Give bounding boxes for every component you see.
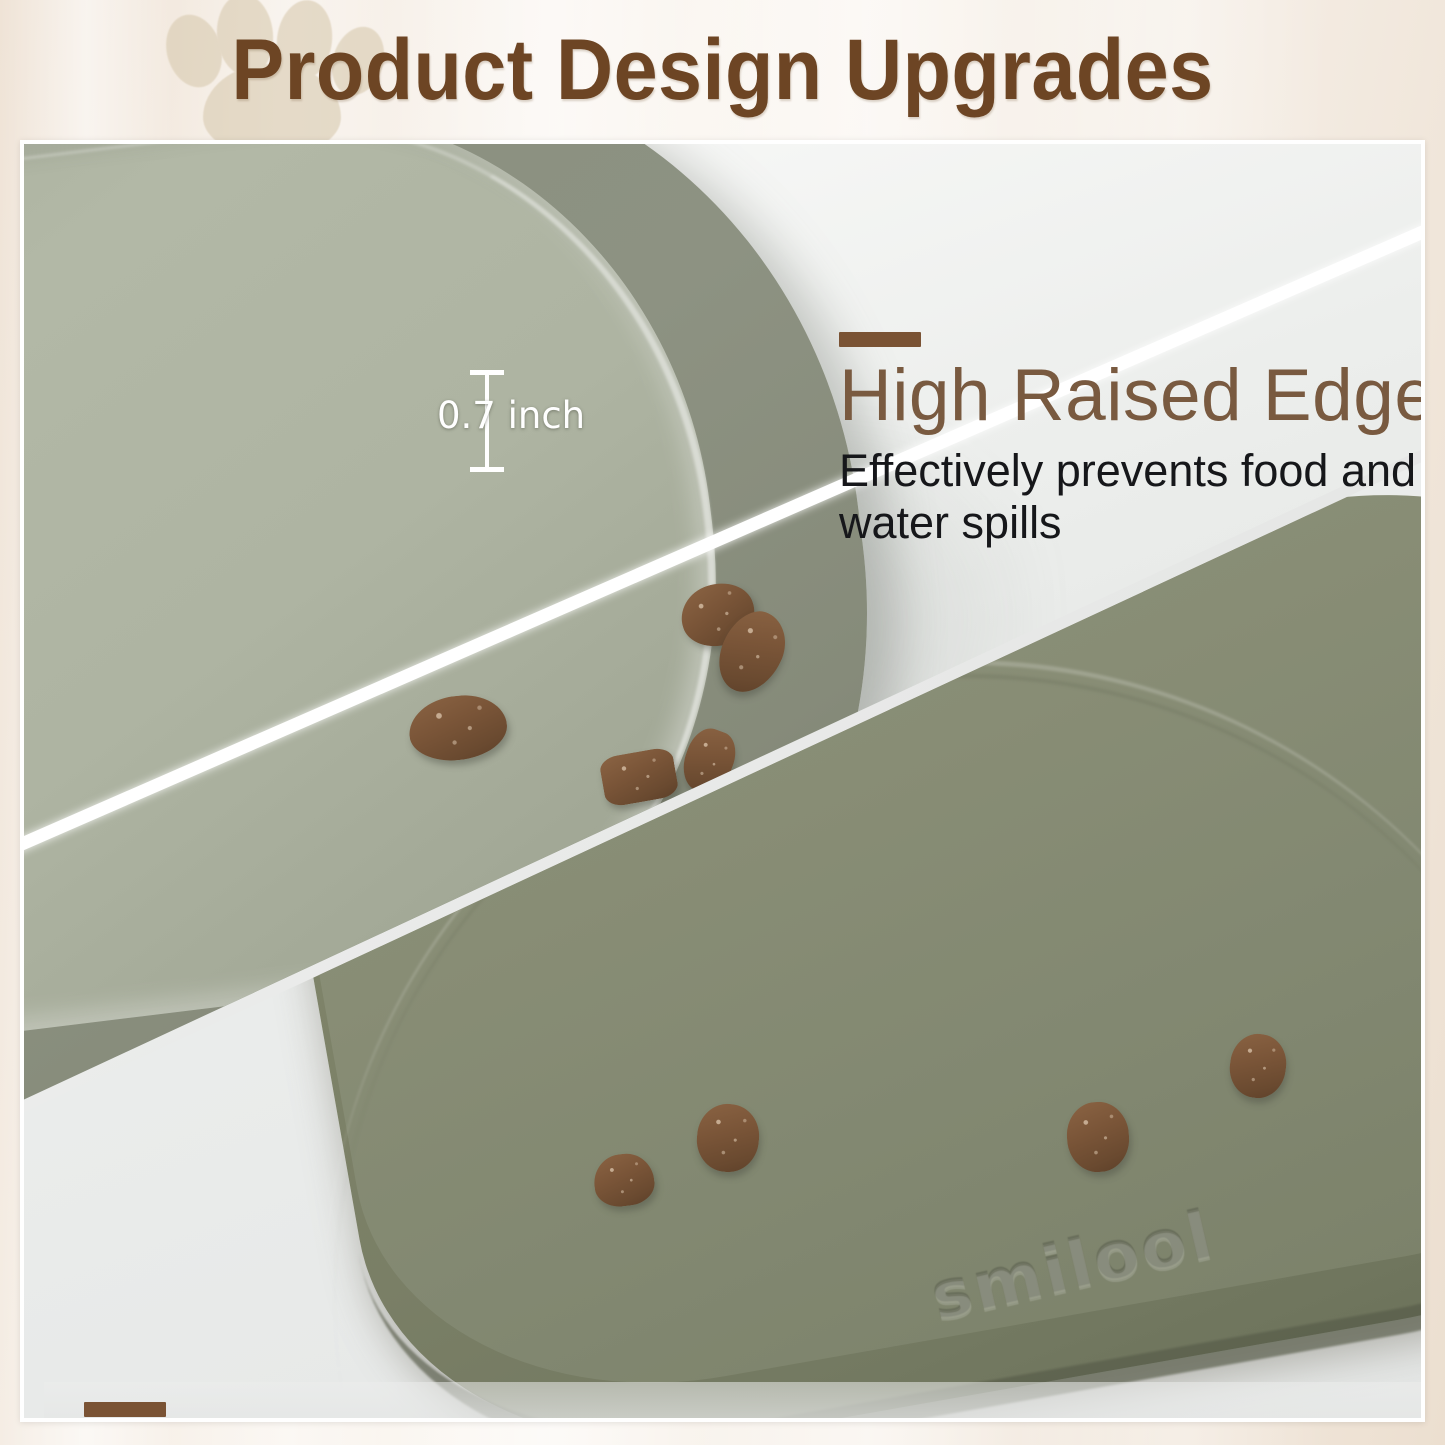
photo-stage: smilool 0.7 inch High Raised Edges [24, 144, 1421, 1418]
callout-keeping-the-floor-clean: Keeping the floor clean Minimizes time s… [84, 1402, 1124, 1418]
product-feature-poster: Product Design Upgrades [0, 0, 1445, 1445]
page-title: Product Design Upgrades [58, 0, 1387, 140]
dimension-line-icon: 0.7 inch [464, 366, 594, 478]
dimension-label: 0.7 inch [437, 397, 585, 434]
accent-rule [84, 1402, 166, 1417]
accent-rule [839, 332, 921, 347]
photo-frame: smilool 0.7 inch High Raised Edges [20, 140, 1425, 1422]
poster-header: Product Design Upgrades [0, 0, 1445, 140]
callout-high-raised-edges: High Raised Edges Effectively prevents f… [839, 332, 1421, 548]
callout-heading: High Raised Edges [839, 359, 1421, 433]
callout-body: Effectively prevents food and water spil… [839, 445, 1421, 548]
